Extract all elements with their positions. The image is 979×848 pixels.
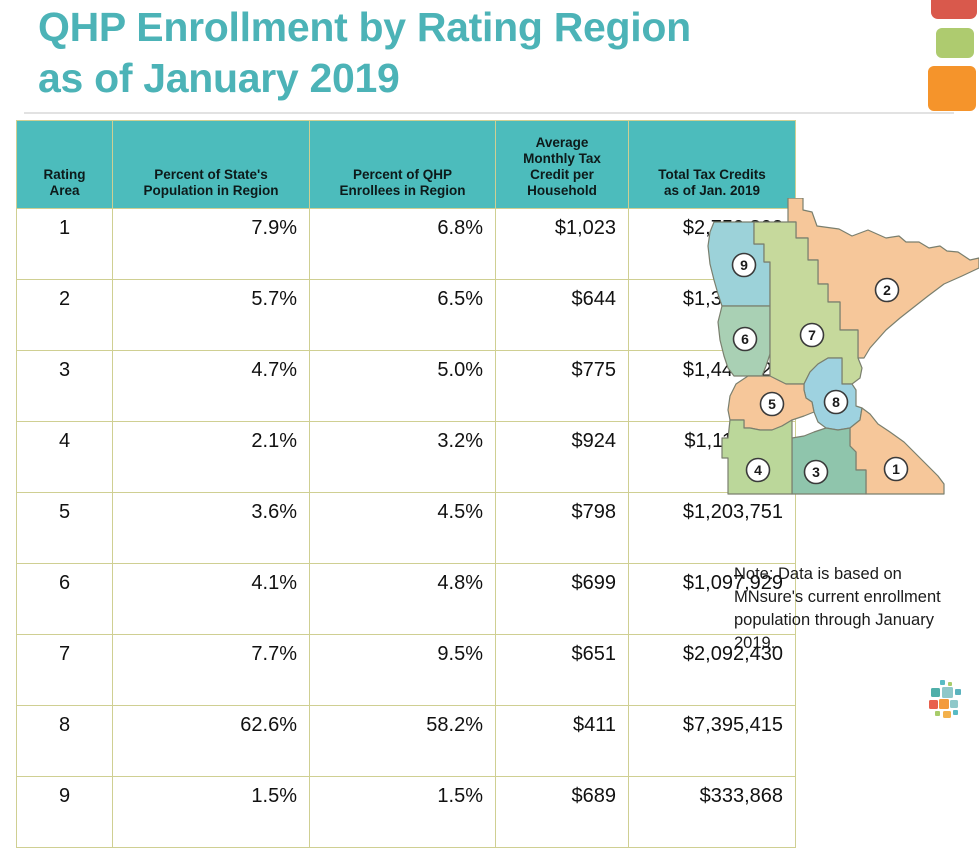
cell-average-credit: $798 (496, 493, 629, 564)
cell-total-credits: $333,868 (629, 777, 796, 848)
map-note-line-3: population through January (734, 609, 966, 632)
column-header-total-credits-line1: Total Tax Credits (639, 167, 785, 183)
cell-rating-area: 7 (17, 635, 113, 706)
map-region-badge-8: 8 (825, 391, 848, 414)
table-row: 42.1%3.2%$924$1,110,562 (17, 422, 796, 493)
map-region-badge-1: 1 (885, 458, 908, 481)
cell-total-credits: $7,395,415 (629, 706, 796, 777)
column-header-percent-enrollees: Percent of QHP Enrollees in Region (310, 121, 496, 209)
cell-percent-enrollees: 6.8% (310, 209, 496, 280)
map-note-line-4: 2019. (734, 632, 966, 655)
cell-rating-area: 3 (17, 351, 113, 422)
minnesota-rating-regions-map: 9 2 6 7 5 8 4 3 1 (700, 198, 979, 538)
table-row: 64.1%4.8%$699$1,097,929 (17, 564, 796, 635)
cell-percent-enrollees: 5.0% (310, 351, 496, 422)
table-row: 53.6%4.5%$798$1,203,751 (17, 493, 796, 564)
svg-text:1: 1 (892, 461, 900, 477)
cell-percent-enrollees: 9.5% (310, 635, 496, 706)
map-note: Note: Data is based on MNsure's current … (734, 563, 966, 655)
column-header-average-credit-line4: Household (506, 183, 618, 199)
table-row: 25.7%6.5%$644$1,357,933 (17, 280, 796, 351)
map-note-line-2: MNsure's current enrollment (734, 586, 966, 609)
column-header-percent-enrollees-line2: Enrollees in Region (320, 183, 485, 199)
page-title: QHP Enrollment by Rating Region as of Ja… (38, 2, 798, 104)
svg-text:3: 3 (812, 464, 820, 480)
map-region-badge-9: 9 (733, 254, 756, 277)
map-region-badge-5: 5 (761, 393, 784, 416)
cell-percent-enrollees: 6.5% (310, 280, 496, 351)
table-row: 862.6%58.2%$411$7,395,415 (17, 706, 796, 777)
cell-percent-enrollees: 4.5% (310, 493, 496, 564)
map-region-badge-6: 6 (734, 328, 757, 351)
cell-rating-area: 8 (17, 706, 113, 777)
map-region-badge-7: 7 (801, 324, 824, 347)
column-header-average-credit-line3: Credit per (506, 167, 618, 183)
cell-average-credit: $699 (496, 564, 629, 635)
column-header-total-credits: Total Tax Credits as of Jan. 2019 (629, 121, 796, 209)
cell-rating-area: 6 (17, 564, 113, 635)
cell-percent-population: 62.6% (113, 706, 310, 777)
qhp-enrollment-table: Rating Area Percent of State's Populatio… (16, 120, 796, 848)
svg-text:7: 7 (808, 327, 816, 343)
cell-rating-area: 1 (17, 209, 113, 280)
cell-average-credit: $411 (496, 706, 629, 777)
column-header-average-credit-line2: Monthly Tax (506, 151, 618, 167)
cell-percent-population: 7.9% (113, 209, 310, 280)
table-header: Rating Area Percent of State's Populatio… (17, 121, 796, 209)
cell-average-credit: $689 (496, 777, 629, 848)
map-note-line-1: Note: Data is based on (734, 563, 966, 586)
cell-rating-area: 5 (17, 493, 113, 564)
cell-percent-population: 5.7% (113, 280, 310, 351)
table-body: 17.9%6.8%$1,023$2,750,80225.7%6.5%$644$1… (17, 209, 796, 848)
column-header-percent-population: Percent of State's Population in Region (113, 121, 310, 209)
table-row: 91.5%1.5%$689$333,868 (17, 777, 796, 848)
column-header-percent-population-line2: Population in Region (123, 183, 299, 199)
svg-text:5: 5 (768, 396, 776, 412)
page-title-line-2: as of January 2019 (38, 53, 798, 104)
column-header-rating-area-line2: Area (27, 183, 102, 199)
page-title-line-1: QHP Enrollment by Rating Region (38, 2, 798, 53)
cell-percent-population: 4.1% (113, 564, 310, 635)
svg-text:2: 2 (883, 282, 891, 298)
column-header-rating-area-line1: Rating (27, 167, 102, 183)
cell-percent-enrollees: 58.2% (310, 706, 496, 777)
cell-average-credit: $1,023 (496, 209, 629, 280)
cell-percent-population: 1.5% (113, 777, 310, 848)
table-row: 34.7%5.0%$775$1,449,125 (17, 351, 796, 422)
cell-percent-population: 4.7% (113, 351, 310, 422)
map-region-badge-4: 4 (747, 459, 770, 482)
decorative-square-orange (928, 66, 976, 111)
decorative-square-red (931, 0, 977, 19)
svg-text:6: 6 (741, 331, 749, 347)
decorative-square-green (936, 28, 974, 58)
cell-percent-population: 7.7% (113, 635, 310, 706)
cell-rating-area: 4 (17, 422, 113, 493)
column-header-average-credit: Average Monthly Tax Credit per Household (496, 121, 629, 209)
column-header-percent-enrollees-line1: Percent of QHP (320, 167, 485, 183)
cell-average-credit: $651 (496, 635, 629, 706)
cell-percent-enrollees: 4.8% (310, 564, 496, 635)
column-header-total-credits-line2: as of Jan. 2019 (639, 183, 785, 199)
cell-percent-enrollees: 1.5% (310, 777, 496, 848)
column-header-rating-area: Rating Area (17, 121, 113, 209)
table-header-row: Rating Area Percent of State's Populatio… (17, 121, 796, 209)
svg-text:9: 9 (740, 257, 748, 273)
cell-rating-area: 2 (17, 280, 113, 351)
table-row: 77.7%9.5%$651$2,092,430 (17, 635, 796, 706)
column-header-average-credit-line1: Average (506, 135, 618, 151)
map-region-4 (722, 420, 792, 494)
cell-percent-population: 2.1% (113, 422, 310, 493)
map-region-badge-2: 2 (876, 279, 899, 302)
cell-average-credit: $775 (496, 351, 629, 422)
table-row: 17.9%6.8%$1,023$2,750,802 (17, 209, 796, 280)
cell-rating-area: 9 (17, 777, 113, 848)
svg-text:8: 8 (832, 394, 840, 410)
map-region-badge-3: 3 (805, 461, 828, 484)
svg-text:4: 4 (754, 462, 762, 478)
cell-percent-population: 3.6% (113, 493, 310, 564)
column-header-percent-population-line1: Percent of State's (123, 167, 299, 183)
cell-average-credit: $644 (496, 280, 629, 351)
cell-percent-enrollees: 3.2% (310, 422, 496, 493)
title-divider (24, 112, 954, 114)
mosaic-logo (926, 679, 968, 721)
cell-average-credit: $924 (496, 422, 629, 493)
